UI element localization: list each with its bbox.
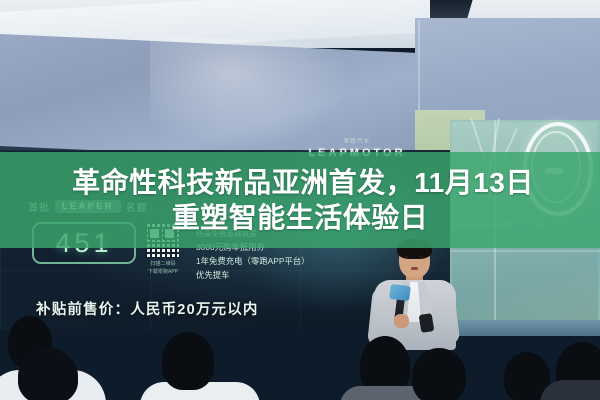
headline-line-1: 革命性科技新品亚洲首发，11月13日	[72, 167, 534, 198]
panel-divider	[450, 250, 600, 252]
audience-head	[162, 332, 214, 390]
audience-head	[18, 348, 78, 400]
speaker-person	[372, 236, 458, 346]
screenshot-stage: 零跑汽车 LEAPMOTOR 零跑汽车 LEAPMOTOR 首批 LEAPER …	[0, 0, 600, 400]
price-text: 补贴前售价：人民币20万元以内	[36, 298, 259, 319]
speaker-eye-right	[419, 256, 423, 258]
headline-line-2: 重塑智能生活体验日	[172, 202, 429, 233]
headline-text: 革命性科技新品亚洲首发，11月13日 重塑智能生活体验日	[0, 154, 600, 246]
speaker-mouth	[411, 267, 418, 270]
board-footer-strip	[450, 320, 600, 336]
microphone-flag	[389, 284, 411, 301]
speaker-handheld-device	[419, 313, 435, 333]
audience-head	[412, 348, 466, 400]
list-item: 优先提车	[196, 269, 366, 283]
wall-highlight	[150, 35, 350, 154]
speaker-eye-left	[405, 256, 409, 258]
qr-caption-line1: 扫描二维码	[139, 261, 187, 269]
list-item: 1年免费充电（零跑APP平台）	[196, 255, 366, 269]
qr-caption-line2: 下载零跑APP	[139, 269, 187, 277]
speaker-hand	[394, 314, 409, 328]
qr-caption: 扫描二维码 下载零跑APP	[139, 261, 187, 276]
brand-logo-cn: 零跑汽车	[302, 140, 412, 146]
